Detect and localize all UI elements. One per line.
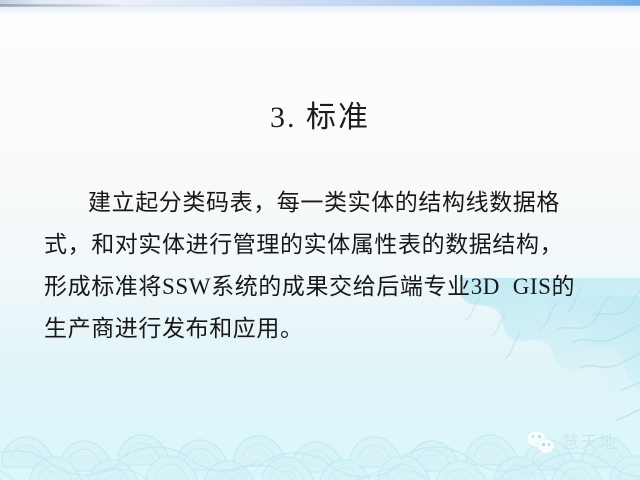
body-line-4: 生产商进行发布和应用。	[44, 308, 602, 350]
wechat-logo-icon	[527, 430, 557, 456]
slide-body-text: 建立起分类码表，每一类实体的结构线数据格 式，和对实体进行管理的实体属性表的数据…	[44, 182, 602, 350]
watermark: 慧天地	[527, 430, 618, 456]
body-line-3: 形成标准将SSW系统的成果交给后端专业3D GIS的	[44, 266, 602, 308]
body-line-1: 建立起分类码表，每一类实体的结构线数据格	[44, 182, 602, 224]
body-line-2: 式，和对实体进行管理的实体属性表的数据结构，	[44, 224, 602, 266]
presentation-slide: 3. 标准 建立起分类码表，每一类实体的结构线数据格 式，和对实体进行管理的实体…	[0, 0, 640, 480]
watermark-label: 慧天地	[562, 433, 618, 453]
slide-title: 3. 标准	[0, 98, 640, 138]
top-band-left-accent	[0, 4, 120, 7]
